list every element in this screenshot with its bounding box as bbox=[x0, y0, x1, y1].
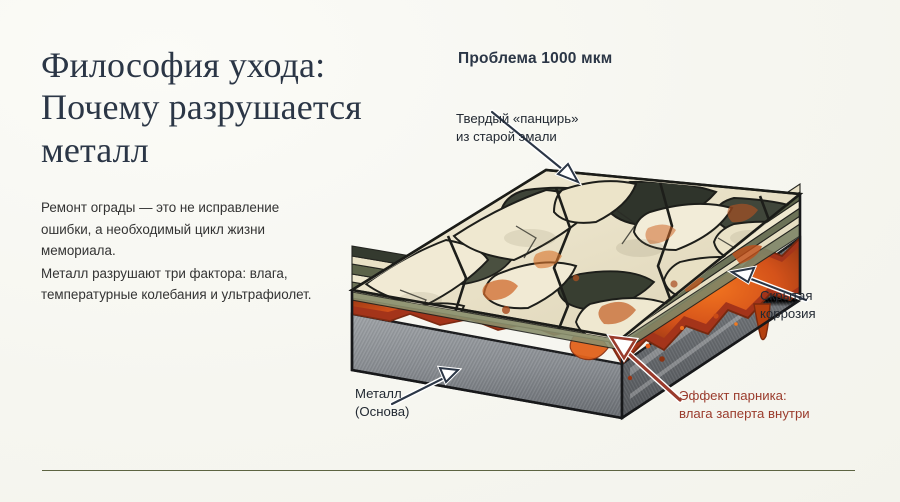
annotation-corrosion-line-1: Скрытая bbox=[760, 287, 816, 305]
annotation-greenhouse-line-1: Эффект парника: bbox=[679, 387, 810, 405]
annotation-greenhouse-line-2: влага заперта внутри bbox=[679, 405, 810, 423]
annotation-corrosion-line-2: коррозия bbox=[760, 305, 816, 323]
annotation-metal-base: Металл (Основа) bbox=[355, 385, 409, 421]
slide-canvas: Философия ухода: Почему разрушается мета… bbox=[0, 0, 900, 502]
annotation-metal-line-1: Металл bbox=[355, 385, 409, 403]
annotation-metal-line-2: (Основа) bbox=[355, 403, 409, 421]
body-paragraph-2: Металл разрушают три фактора: влага, тем… bbox=[41, 263, 331, 305]
title-line-2: Почему разрушается bbox=[41, 87, 362, 127]
annotation-crust-line-1: Твердый «панцирь» bbox=[456, 110, 578, 128]
annotation-crust-line-2: из старой эмали bbox=[456, 128, 578, 146]
footer-divider bbox=[42, 470, 855, 471]
isometric-coating-cross-section bbox=[330, 78, 890, 438]
figure-kicker: Проблема 1000 мкм bbox=[458, 50, 612, 68]
body-paragraph-1: Ремонт ограды — это не исправление ошибк… bbox=[41, 197, 331, 261]
annotation-greenhouse-effect: Эффект парника: влага заперта внутри bbox=[679, 387, 810, 423]
title-line-1: Философия ухода: bbox=[41, 45, 325, 85]
annotation-hidden-corrosion: Скрытая коррозия bbox=[760, 287, 816, 323]
body-copy: Ремонт ограды — это не исправление ошибк… bbox=[41, 197, 331, 305]
annotation-crust: Твердый «панцирь» из старой эмали bbox=[456, 110, 578, 146]
title-line-3: металл bbox=[41, 130, 149, 170]
